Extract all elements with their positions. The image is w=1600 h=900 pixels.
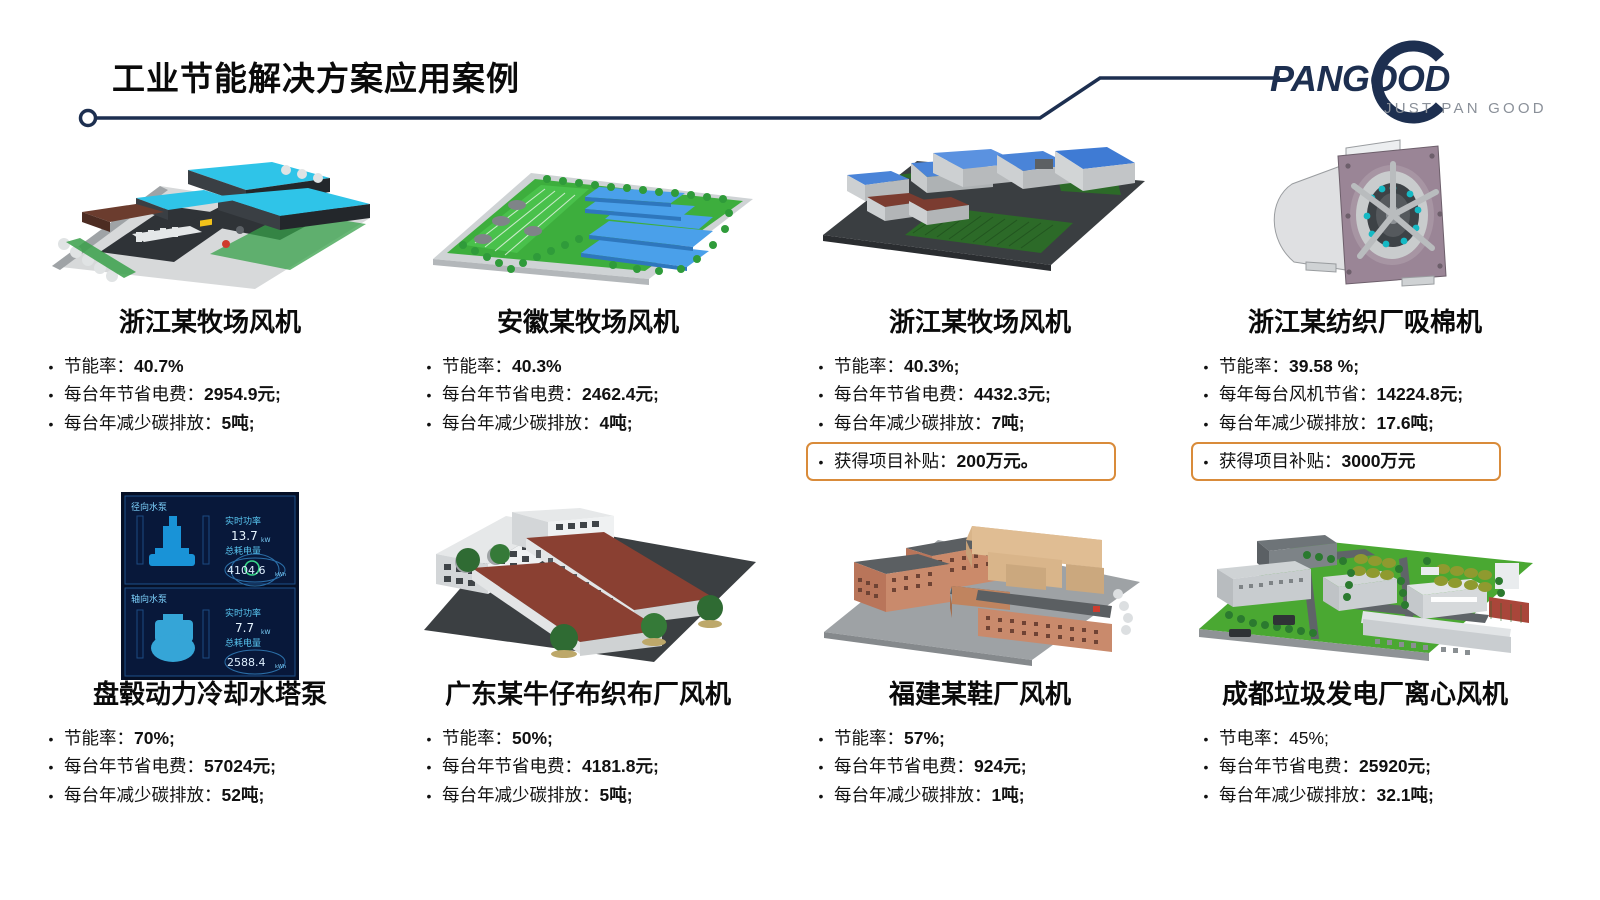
bullet-value: 40.7% <box>134 352 184 380</box>
bullet-value: 57%; <box>904 724 945 752</box>
list-item: • 节能率： 40.3%; <box>808 352 1176 380</box>
bullet-label: 每台年节省电费： <box>834 380 974 408</box>
list-item: • 每台年减少碳排放： 5吨; <box>416 781 784 809</box>
bullet-dot: • <box>808 728 834 751</box>
list-item: • 节能率： 40.3% <box>416 352 784 380</box>
case-card[interactable]: 径向水泵 轴向水泵 <box>20 502 400 887</box>
case-row-2: 径向水泵 轴向水泵 <box>0 502 1600 887</box>
subsidy-highlight-box: • 获得项目补贴： 3000万元 <box>1191 442 1501 481</box>
hmi-panel1-title: 径向水泵 <box>131 501 167 513</box>
bullet-label: 获得项目补贴： <box>1219 447 1342 475</box>
bullet-value: 4吨; <box>600 409 633 437</box>
case-bullet-list: • 节能率： 50%; • 每台年节省电费： 4181.8元; • 每台年减少碳… <box>416 724 784 809</box>
bullet-dot: • <box>416 785 442 808</box>
list-item: • 每台年节省电费： 25920元; <box>1193 752 1561 780</box>
bullet-value: 5吨; <box>222 409 255 437</box>
list-item: • 每台年减少碳排放： 17.6吨; <box>1193 409 1561 437</box>
bullet-label: 节能率： <box>834 352 904 380</box>
bullet-value: 40.3%; <box>904 352 959 380</box>
bullet-dot: • <box>1193 413 1219 436</box>
bullet-dot: • <box>808 451 834 474</box>
bullet-value: 25920元; <box>1359 752 1431 780</box>
case-title: 广东某牛仔布织布厂风机 <box>398 674 778 711</box>
bullet-dot: • <box>38 728 64 751</box>
case-bullet-list: • 节能率： 70%; • 每台年节省电费： 57024元; • 每台年减少碳排… <box>38 724 406 809</box>
bullet-dot: • <box>416 384 442 407</box>
list-item: • 每年每台风机节省： 14224.8元; <box>1193 380 1561 408</box>
bullet-label: 每台年减少碳排放： <box>1219 781 1377 809</box>
list-item: • 每台年节省电费： 4181.8元; <box>416 752 784 780</box>
bullet-dot: • <box>416 413 442 436</box>
case-bullet-list: • 节电率： 45%; • 每台年节省电费： 25920元; • 每台年减少碳排… <box>1193 724 1561 809</box>
bullet-label: 每台年减少碳排放： <box>442 781 600 809</box>
bullet-value: 52吨; <box>222 781 265 809</box>
case-card[interactable]: 成都垃圾发电厂离心风机 • 节电率： 45%; • 每台年节省电费： 25920… <box>1175 502 1555 887</box>
list-item: • 节能率： 40.7% <box>38 352 406 380</box>
page-title: 工业节能解决方案应用案例 <box>112 52 520 100</box>
case-card[interactable]: 浙江某牧场风机 • 节能率： 40.3%; • 每台年节省电费： 4432.3元… <box>790 130 1170 515</box>
hmi-monitor-screenshot: 径向水泵 轴向水泵 <box>121 492 299 680</box>
bullet-label: 获得项目补贴： <box>834 447 957 475</box>
bullet-label: 节能率： <box>834 724 904 752</box>
hmi-energy-label-2: 总耗电量 <box>225 637 261 649</box>
bullet-label: 每台年减少碳排放： <box>1219 409 1377 437</box>
case-card[interactable]: 安徽某牧场风机 • 节能率： 40.3% • 每台年节省电费： 2462.4元;… <box>398 130 778 515</box>
bullet-label: 每台年节省电费： <box>442 380 582 408</box>
case-bullet-list: • 节能率： 40.7% • 每台年节省电费： 2954.9元; • 每台年减少… <box>38 352 406 437</box>
svg-text:kW: kW <box>261 629 270 636</box>
bullet-value: 2462.4元; <box>582 380 659 408</box>
hmi-energy-label-1: 总耗电量 <box>225 545 261 557</box>
list-item: • 节能率： 50%; <box>416 724 784 752</box>
bullet-dot: • <box>808 413 834 436</box>
bullet-dot: • <box>1193 728 1219 751</box>
case-card[interactable]: 福建某鞋厂风机 • 节能率： 57%; • 每台年节省电费： 924元; • 每… <box>790 502 1170 887</box>
case-thumbnail: 径向水泵 轴向水泵 <box>20 502 400 670</box>
bullet-value: 924元; <box>974 752 1027 780</box>
hmi-power-value-1: 13.7 <box>231 529 258 543</box>
svg-text:kW: kW <box>261 537 270 544</box>
bullet-dot: • <box>1193 785 1219 808</box>
bullet-value: 17.6吨; <box>1377 409 1434 437</box>
bullet-value: 3000万元 <box>1342 447 1416 475</box>
hmi-power-value-2: 7.7 <box>235 621 254 635</box>
bullet-label: 每台年减少碳排放： <box>64 781 222 809</box>
bullet-value: 7吨; <box>992 409 1025 437</box>
bullet-value: 32.1吨; <box>1377 781 1434 809</box>
list-item: • 每台年节省电费： 924元; <box>808 752 1176 780</box>
case-thumbnail <box>20 130 400 298</box>
list-item: • 节电率： 45%; <box>1193 724 1561 752</box>
hmi-energy-value-1: 4104.6 <box>227 564 266 577</box>
bullet-label: 每台年节省电费： <box>64 752 204 780</box>
factory-3d-red-roof-render <box>408 502 768 670</box>
bullet-value: 39.58 %; <box>1289 352 1359 380</box>
bullet-label: 节能率： <box>1219 352 1289 380</box>
case-thumbnail <box>1175 502 1555 670</box>
case-grid: 浙江某牧场风机 • 节能率： 40.7% • 每台年节省电费： 2954.9元;… <box>0 130 1600 900</box>
list-item: • 每台年节省电费： 2954.9元; <box>38 380 406 408</box>
bullet-dot: • <box>808 756 834 779</box>
bullet-value: 57024元; <box>204 752 276 780</box>
bullet-value: 4181.8元; <box>582 752 659 780</box>
list-item: • 节能率： 57%; <box>808 724 1176 752</box>
bullet-dot: • <box>38 384 64 407</box>
bullet-value: 5吨; <box>600 781 633 809</box>
bullet-dot: • <box>38 356 64 379</box>
bullet-dot: • <box>808 356 834 379</box>
bullet-label: 每台年减少碳排放： <box>834 781 992 809</box>
bullet-value: 2954.9元; <box>204 380 281 408</box>
case-title: 成都垃圾发电厂离心风机 <box>1175 674 1555 711</box>
list-item: • 每台年减少碳排放： 1吨; <box>808 781 1176 809</box>
case-thumbnail <box>398 502 778 670</box>
bullet-label: 每台年减少碳排放： <box>834 409 992 437</box>
bullet-dot: • <box>38 413 64 436</box>
list-item: • 每台年减少碳排放： 32.1吨; <box>1193 781 1561 809</box>
bullet-dot: • <box>38 756 64 779</box>
bullet-value: 40.3% <box>512 352 562 380</box>
bullet-label: 每台年节省电费： <box>834 752 974 780</box>
bullet-label: 节电率： <box>1219 724 1289 752</box>
case-bullet-list: • 节能率： 39.58 %; • 每年每台风机节省： 14224.8元; • … <box>1193 352 1561 481</box>
industrial-park-3d-green-render <box>1185 511 1545 661</box>
list-item: • 每台年减少碳排放： 4吨; <box>416 409 784 437</box>
hmi-power-label-1: 实时功率 <box>225 515 261 527</box>
bullet-value: 50%; <box>512 724 553 752</box>
factory-3d-brick-buildings-render <box>810 506 1150 666</box>
list-item: • 每台年节省电费： 57024元; <box>38 752 406 780</box>
list-item: • 每台年减少碳排放： 5吨; <box>38 409 406 437</box>
list-item: • 节能率： 39.58 %; <box>1193 352 1561 380</box>
page-header: 工业节能解决方案应用案例 PANGOOD JUST PAN GOOD <box>0 0 1600 140</box>
case-thumbnail <box>398 130 778 298</box>
bullet-dot: • <box>808 785 834 808</box>
bullet-dot: • <box>1193 384 1219 407</box>
case-title: 浙江某牧场风机 <box>20 302 400 339</box>
case-thumbnail <box>790 502 1170 670</box>
case-title: 安徽某牧场风机 <box>398 302 778 339</box>
bullet-label: 节能率： <box>442 724 512 752</box>
hmi-panel2-title: 轴向水泵 <box>131 593 167 605</box>
case-row-1: 浙江某牧场风机 • 节能率： 40.7% • 每台年节省电费： 2954.9元;… <box>0 130 1600 515</box>
bullet-dot: • <box>1193 451 1219 474</box>
bullet-label: 每台年节省电费： <box>1219 752 1359 780</box>
bullet-dot: • <box>416 356 442 379</box>
bullet-dot: • <box>416 756 442 779</box>
pangood-logo: PANGOOD JUST PAN GOOD <box>1262 34 1552 134</box>
case-title: 福建某鞋厂风机 <box>790 674 1170 711</box>
case-title: 盘毂动力冷却水塔泵 <box>20 674 400 711</box>
bullet-dot: • <box>808 384 834 407</box>
list-item: • 每台年减少碳排放： 7吨; <box>808 409 1176 437</box>
logo-wordmark: PANGOOD <box>1270 61 1530 97</box>
bullet-label: 每年每台风机节省： <box>1219 380 1377 408</box>
bullet-label: 每台年减少碳排放： <box>442 409 600 437</box>
bullet-label: 节能率： <box>64 352 134 380</box>
bullet-label: 每台年节省电费： <box>64 380 204 408</box>
list-item: • 节能率： 70%; <box>38 724 406 752</box>
case-card[interactable]: 浙江某牧场风机 • 节能率： 40.7% • 每台年节省电费： 2954.9元;… <box>20 130 400 515</box>
centrifugal-fan-cad-render <box>1250 130 1480 298</box>
case-bullet-list: • 节能率： 40.3% • 每台年节省电费： 2462.4元; • 每台年减少… <box>416 352 784 437</box>
farm-3d-dark-base-blue-roof-render <box>805 139 1155 289</box>
bullet-dot: • <box>416 728 442 751</box>
bullet-label: 节能率： <box>442 352 512 380</box>
hmi-power-label-2: 实时功率 <box>225 607 261 619</box>
bullet-value: 4432.3元; <box>974 380 1051 408</box>
case-card[interactable]: 广东某牛仔布织布厂风机 • 节能率： 50%; • 每台年节省电费： 4181.… <box>398 502 778 887</box>
case-card[interactable]: 浙江某纺织厂吸棉机 • 节能率： 39.58 %; • 每年每台风机节省： 14… <box>1175 130 1555 515</box>
bullet-dot: • <box>1193 756 1219 779</box>
list-item: • 每台年节省电费： 4432.3元; <box>808 380 1176 408</box>
svg-text:kWh: kWh <box>275 572 286 578</box>
svg-text:kWh: kWh <box>275 664 286 670</box>
bullet-dot: • <box>1193 356 1219 379</box>
bullet-value: 70%; <box>134 724 175 752</box>
case-bullet-list: • 节能率： 57%; • 每台年节省电费： 924元; • 每台年减少碳排放：… <box>808 724 1176 809</box>
case-title: 浙江某牧场风机 <box>790 302 1170 339</box>
hmi-energy-value-2: 2588.4 <box>227 656 266 669</box>
bullet-value: 14224.8元; <box>1377 380 1464 408</box>
bullet-value: 200万元。 <box>957 447 1039 475</box>
farm-3d-green-field-blue-roof-render <box>413 139 763 289</box>
bullet-value: 45%; <box>1289 724 1329 752</box>
subsidy-highlight-box: • 获得项目补贴： 200万元。 <box>806 442 1116 481</box>
case-title: 浙江某纺织厂吸棉机 <box>1175 302 1555 339</box>
farm-3d-cyan-roof-render <box>40 134 380 294</box>
bullet-label: 每台年减少碳排放： <box>64 409 222 437</box>
bullet-label: 每台年节省电费： <box>442 752 582 780</box>
list-item: • 每台年减少碳排放： 52吨; <box>38 781 406 809</box>
bullet-label: 节能率： <box>64 724 134 752</box>
bullet-value: 1吨; <box>992 781 1025 809</box>
logo-tagline: JUST PAN GOOD <box>1384 100 1547 117</box>
case-thumbnail <box>790 130 1170 298</box>
list-item: • 每台年节省电费： 2462.4元; <box>416 380 784 408</box>
case-bullet-list: • 节能率： 40.3%; • 每台年节省电费： 4432.3元; • 每台年减… <box>808 352 1176 481</box>
bullet-dot: • <box>38 785 64 808</box>
case-thumbnail <box>1175 130 1555 298</box>
